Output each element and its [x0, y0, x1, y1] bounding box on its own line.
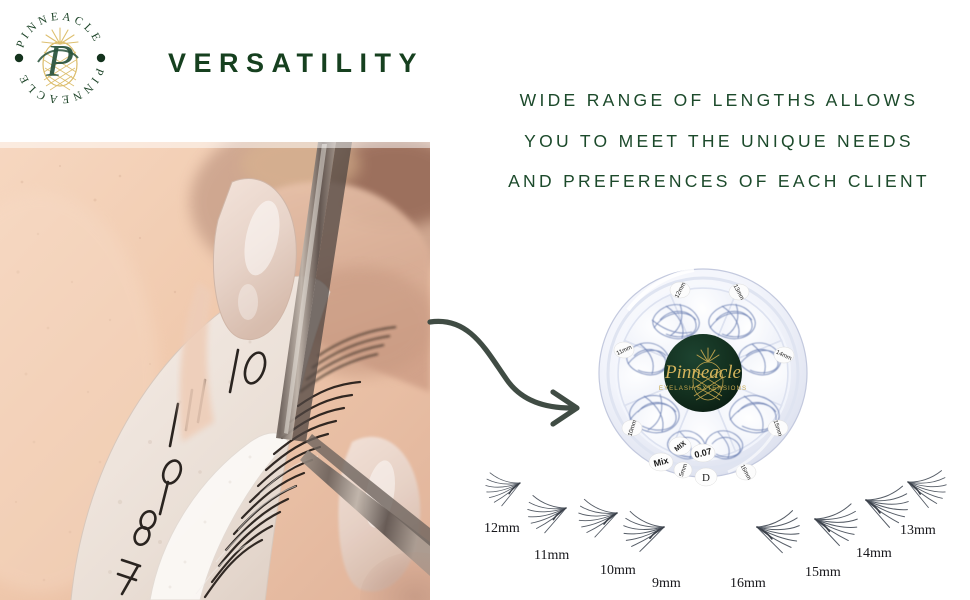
lash-size-label-14mm: 14mm — [856, 546, 892, 562]
lash-size-label-16mm: 16mm — [730, 576, 766, 592]
tray-brand-subtitle: EYELASH EXTENSIONS — [659, 385, 747, 392]
svg-text:D: D — [702, 472, 710, 484]
lash-size-label-9mm: 9mm — [652, 576, 681, 592]
lash-size-label-10mm: 10mm — [600, 563, 636, 579]
lash-fan-15mm — [809, 494, 863, 549]
lash-size-label-13mm: 13mm — [900, 523, 936, 539]
page-title: VERSATILITY — [168, 48, 424, 79]
lash-size-label-11mm: 11mm — [534, 548, 569, 564]
lash-size-label-15mm: 15mm — [805, 565, 841, 581]
logo-monogram: P — [45, 35, 74, 86]
tagline-line-2: YOU TO MEET THE UNIQUE NEEDS — [470, 133, 968, 151]
curved-pointer-arrow — [425, 312, 605, 432]
eyelash-tray: Pinneacle EYELASH EXTENSIONS 12mm 13mm 1… — [598, 250, 808, 500]
lash-fan-13mm — [902, 460, 953, 511]
lash-fan-11mm — [522, 486, 572, 536]
lash-size-label-12mm: 12mm — [484, 521, 520, 537]
logo-svg: PINNEACLE PINNEACLE — [8, 6, 112, 110]
pinneacle-logo: PINNEACLE PINNEACLE — [8, 6, 112, 110]
lash-fan-16mm — [752, 502, 805, 556]
lash-fan-12mm — [480, 463, 525, 509]
tray-brand-script: Pinneacle — [664, 362, 741, 383]
tagline-block: WIDE RANGE OF LENGTHS ALLOWS YOU TO MEET… — [470, 92, 968, 191]
logo-dot-left — [15, 54, 23, 62]
logo-dot-right — [97, 54, 105, 62]
lash-fan-9mm — [618, 503, 669, 554]
tagline-line-3: AND PREFERENCES OF EACH CLIENT — [470, 173, 968, 191]
tagline-line-1: WIDE RANGE OF LENGTHS ALLOWS — [470, 92, 968, 110]
promo-canvas: PINNEACLE PINNEACLE — [0, 0, 970, 600]
eyelash-procedure-photo — [0, 142, 430, 600]
lash-fan-14mm — [860, 475, 915, 531]
